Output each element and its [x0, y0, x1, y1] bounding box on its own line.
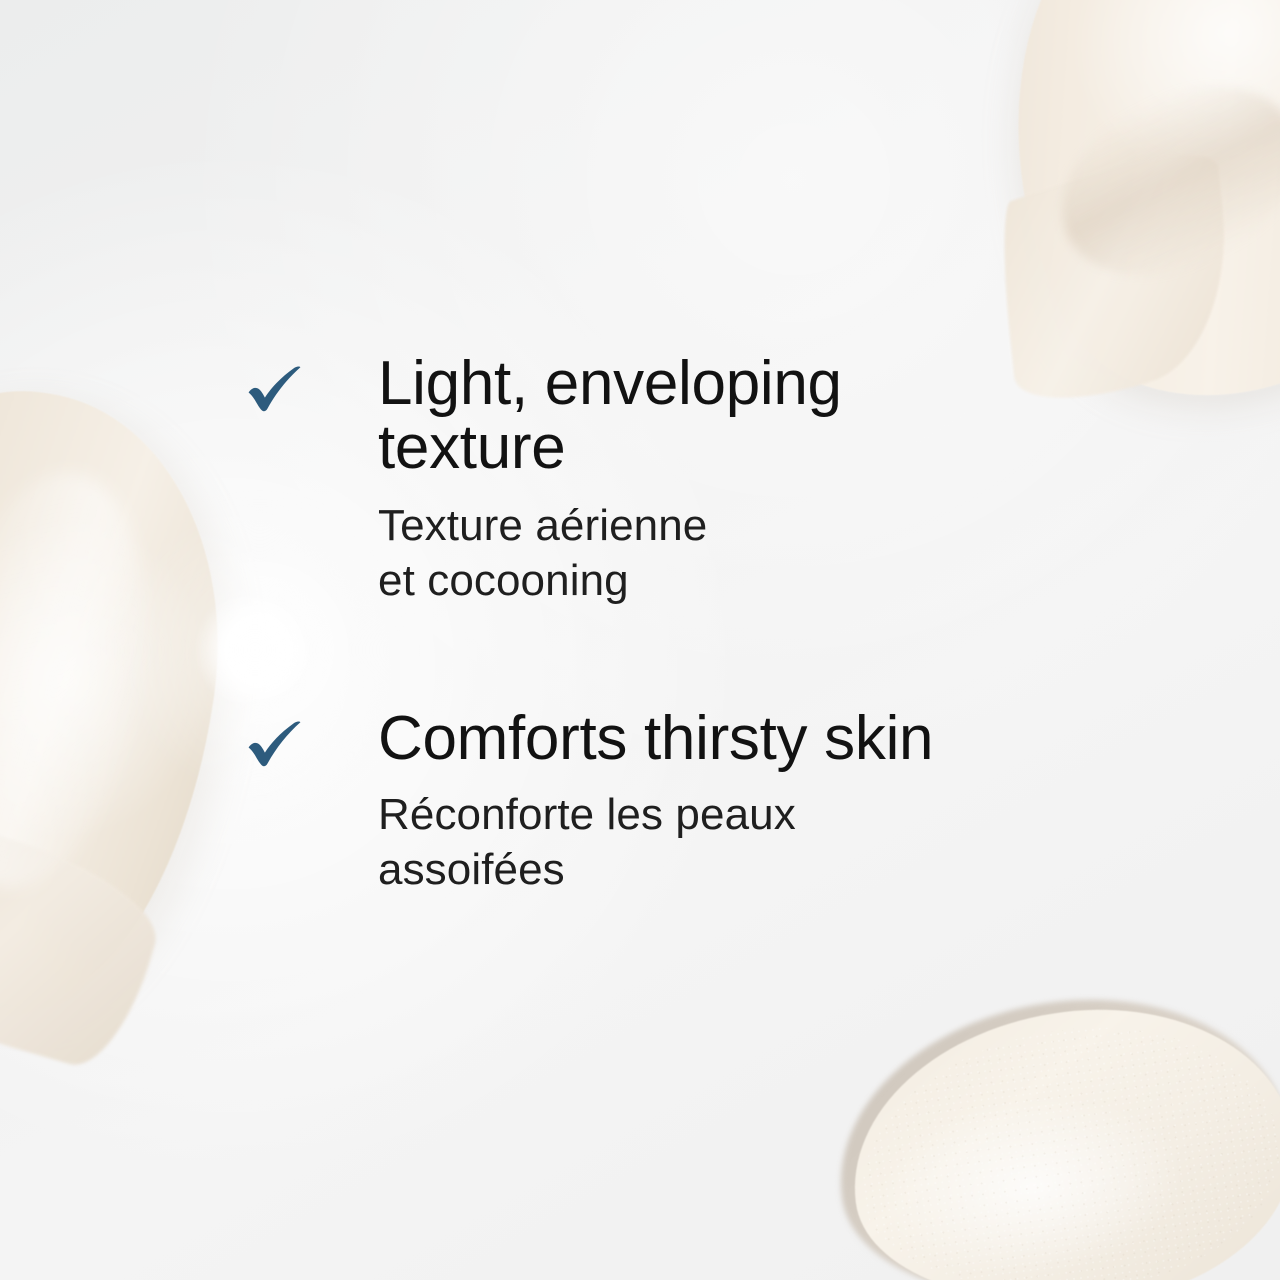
- benefit-2-subtitle: Réconforte les peaux assoifées: [378, 787, 933, 898]
- benefits-card: Light, enveloping texture Texture aérien…: [0, 0, 1280, 1280]
- benefit-1-text: Light, enveloping texture Texture aérien…: [378, 352, 842, 609]
- benefit-1-subtitle: Texture aérienne et cocooning: [378, 498, 842, 609]
- benefit-1-check-cell: [246, 352, 378, 420]
- check-icon: [246, 366, 304, 420]
- benefit-2-title: Comforts thirsty skin: [378, 707, 933, 771]
- benefit-2-check-cell: [246, 707, 378, 775]
- benefit-item-1: Light, enveloping texture Texture aérien…: [246, 352, 842, 609]
- check-icon: [246, 721, 304, 775]
- benefit-1-title: Light, enveloping texture: [378, 352, 842, 480]
- benefit-2-text: Comforts thirsty skin Réconforte les pea…: [378, 707, 933, 898]
- benefit-item-2: Comforts thirsty skin Réconforte les pea…: [246, 707, 933, 898]
- benefits-content: Light, enveloping texture Texture aérien…: [0, 0, 1280, 1280]
